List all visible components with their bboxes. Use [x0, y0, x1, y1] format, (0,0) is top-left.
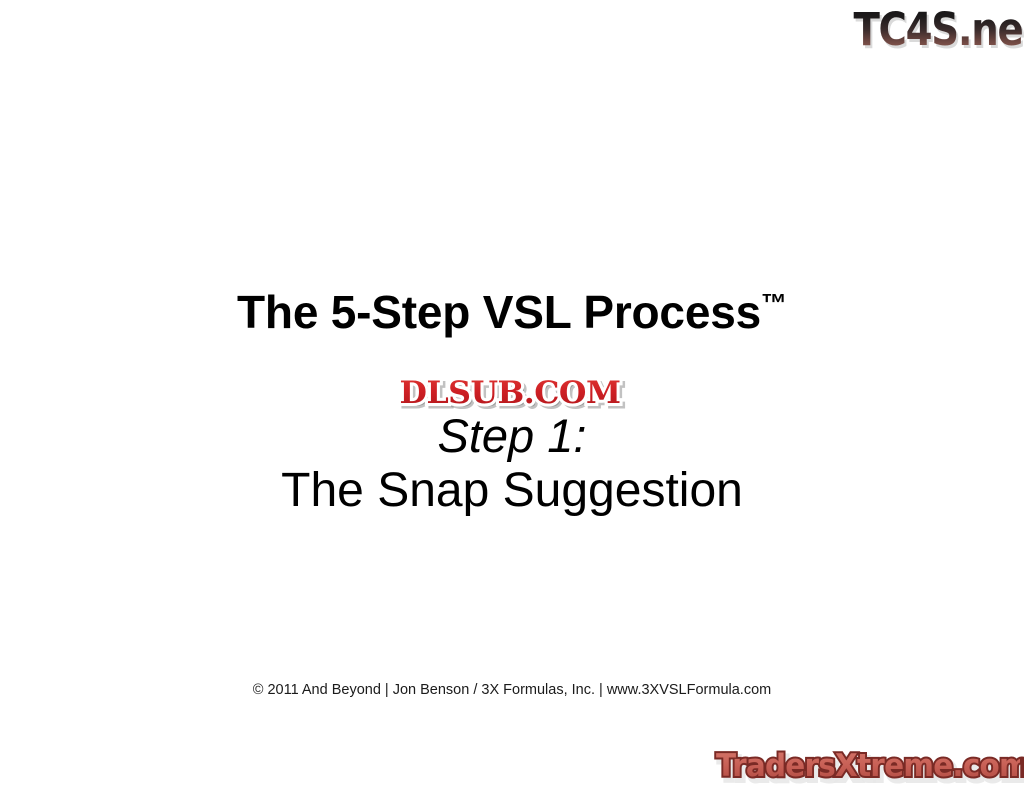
trademark-symbol: ™ [761, 288, 787, 318]
subtitle-step-name: The Snap Suggestion [0, 464, 1024, 518]
tradersxtreme-watermark: TradersXtreme.com TradersXtreme.com Trad… [700, 744, 1020, 788]
dlsub-watermark-text: DLSUB.COM [359, 372, 661, 414]
dlsub-watermark: DLSUB.COM DLSUB.COM DLSUB.COM [362, 372, 658, 414]
presentation-slide: TC4S.net TC4S.net The 5-Step VSL Process… [0, 0, 1024, 791]
tc4s-logo: TC4S.net TC4S.net [826, 2, 1022, 58]
tradersxtreme-watermark-text: TradersXtreme.com [716, 744, 1020, 788]
tc4s-logo-text: TC4S.net [853, 2, 1022, 58]
copyright-notice: © 2011 And Beyond | Jon Benson / 3X Form… [0, 681, 1024, 700]
page-title-text: The 5-Step VSL Process [237, 286, 761, 338]
page-title: The 5-Step VSL Process™ [0, 278, 1024, 337]
subtitle-step-label: Step 1: [0, 410, 1024, 462]
